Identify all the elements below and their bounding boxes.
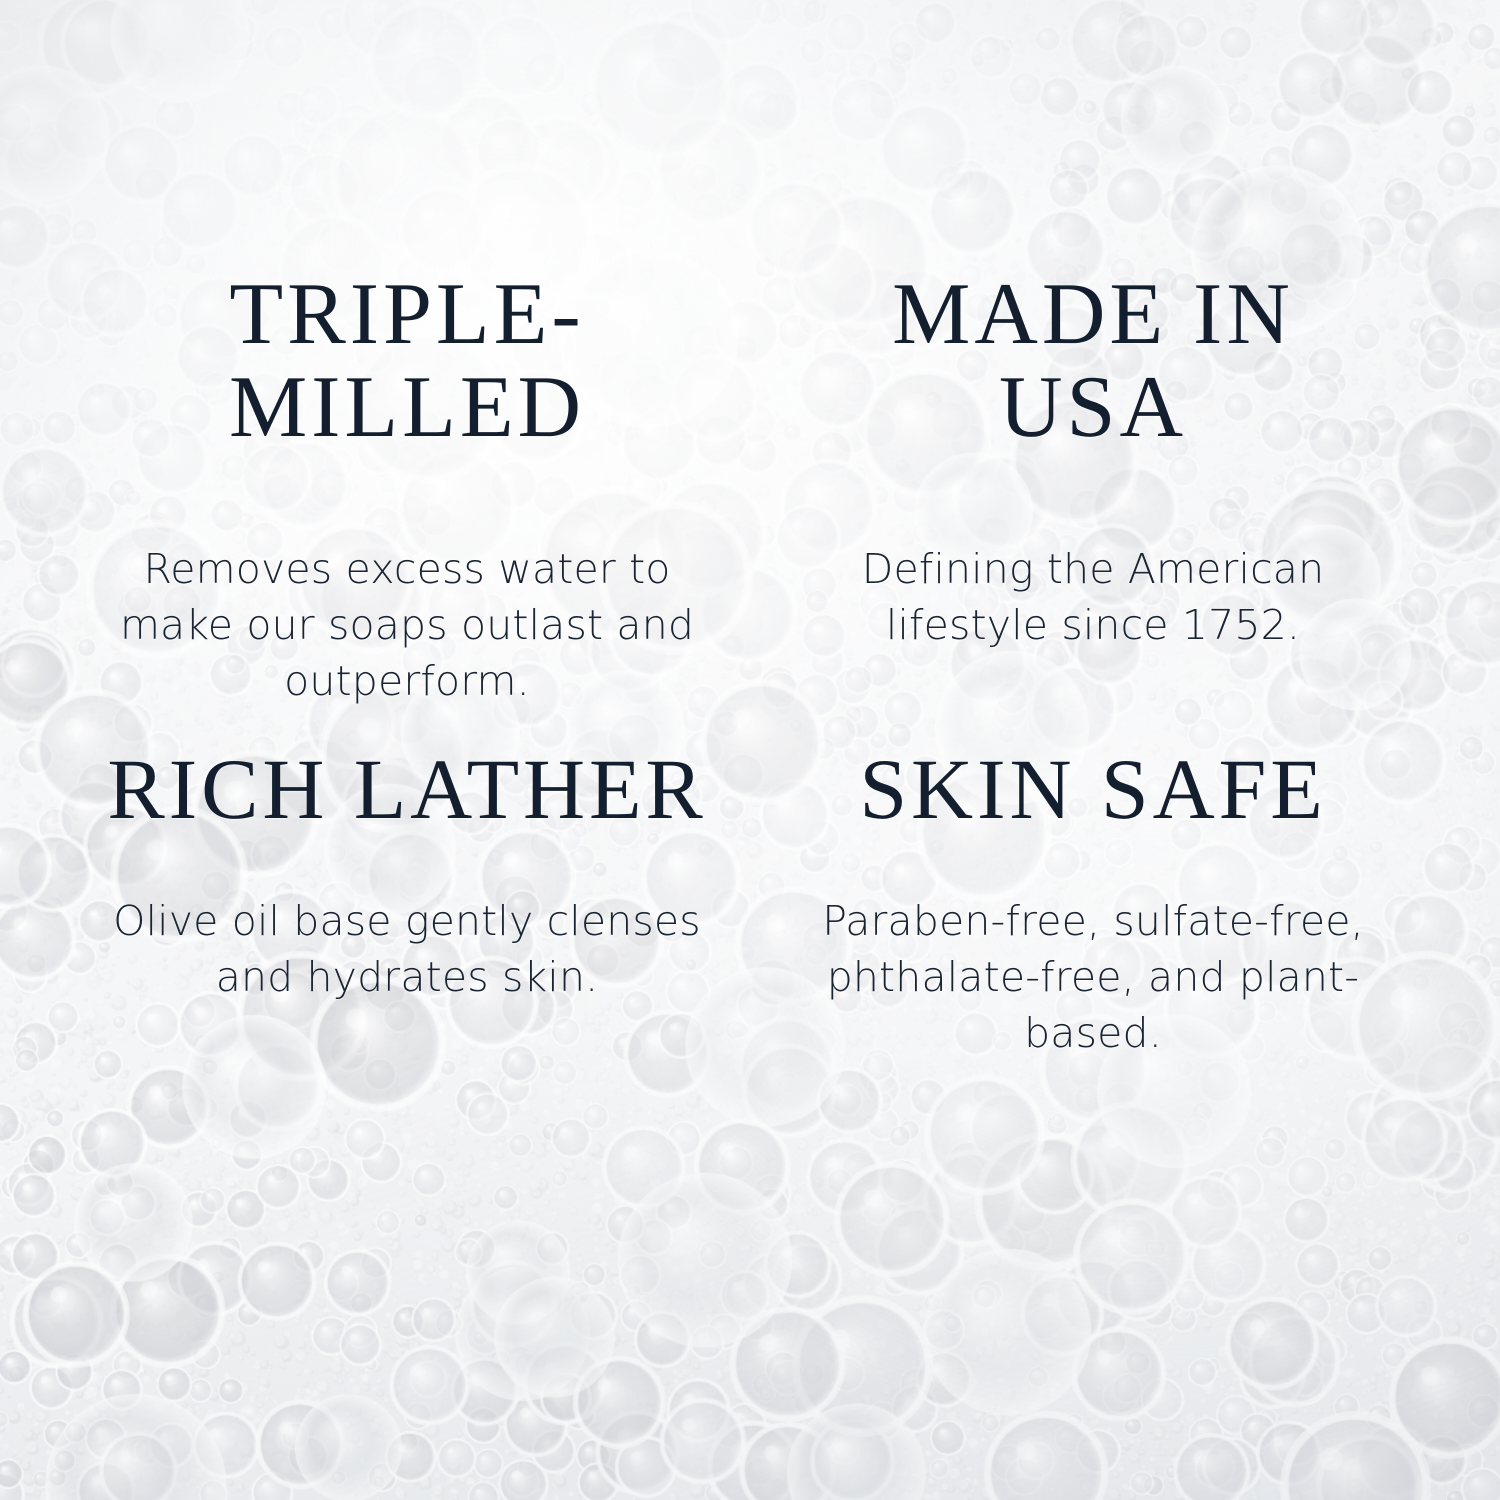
heading-line-2: MILLED bbox=[229, 359, 585, 456]
feature-description-triple-milled: Removes excess water to make our soaps o… bbox=[97, 541, 717, 709]
feature-heading-rich-lather: RICH LATHER bbox=[107, 744, 706, 835]
feature-cell-rich-lather: RICH LATHER Olive oil base gently clense… bbox=[78, 734, 736, 1200]
feature-heading-made-in-usa: MADE IN USA bbox=[892, 268, 1294, 455]
feature-description-made-in-usa: Defining the American lifestyle since 17… bbox=[828, 541, 1358, 653]
heading-line-1: MADE IN bbox=[892, 266, 1294, 363]
feature-cell-made-in-usa: MADE IN USA Defining the American lifest… bbox=[764, 268, 1422, 734]
feature-cell-triple-milled: TRIPLE- MILLED Removes excess water to m… bbox=[78, 268, 736, 734]
heading-line-2: USA bbox=[999, 359, 1187, 456]
feature-heading-skin-safe: SKIN SAFE bbox=[859, 744, 1326, 835]
feature-grid: TRIPLE- MILLED Removes excess water to m… bbox=[0, 0, 1500, 1500]
feature-description-rich-lather: Olive oil base gently clenses and hydrat… bbox=[78, 893, 736, 1005]
benefits-panel: TRIPLE- MILLED Removes excess water to m… bbox=[0, 0, 1500, 1500]
heading-line-1: TRIPLE- bbox=[229, 266, 584, 363]
feature-heading-triple-milled: TRIPLE- MILLED bbox=[229, 268, 585, 455]
feature-description-skin-safe: Paraben-free, sulfate-free, phthalate-fr… bbox=[803, 893, 1383, 1061]
feature-cell-skin-safe: SKIN SAFE Paraben-free, sulfate-free, ph… bbox=[764, 734, 1422, 1200]
